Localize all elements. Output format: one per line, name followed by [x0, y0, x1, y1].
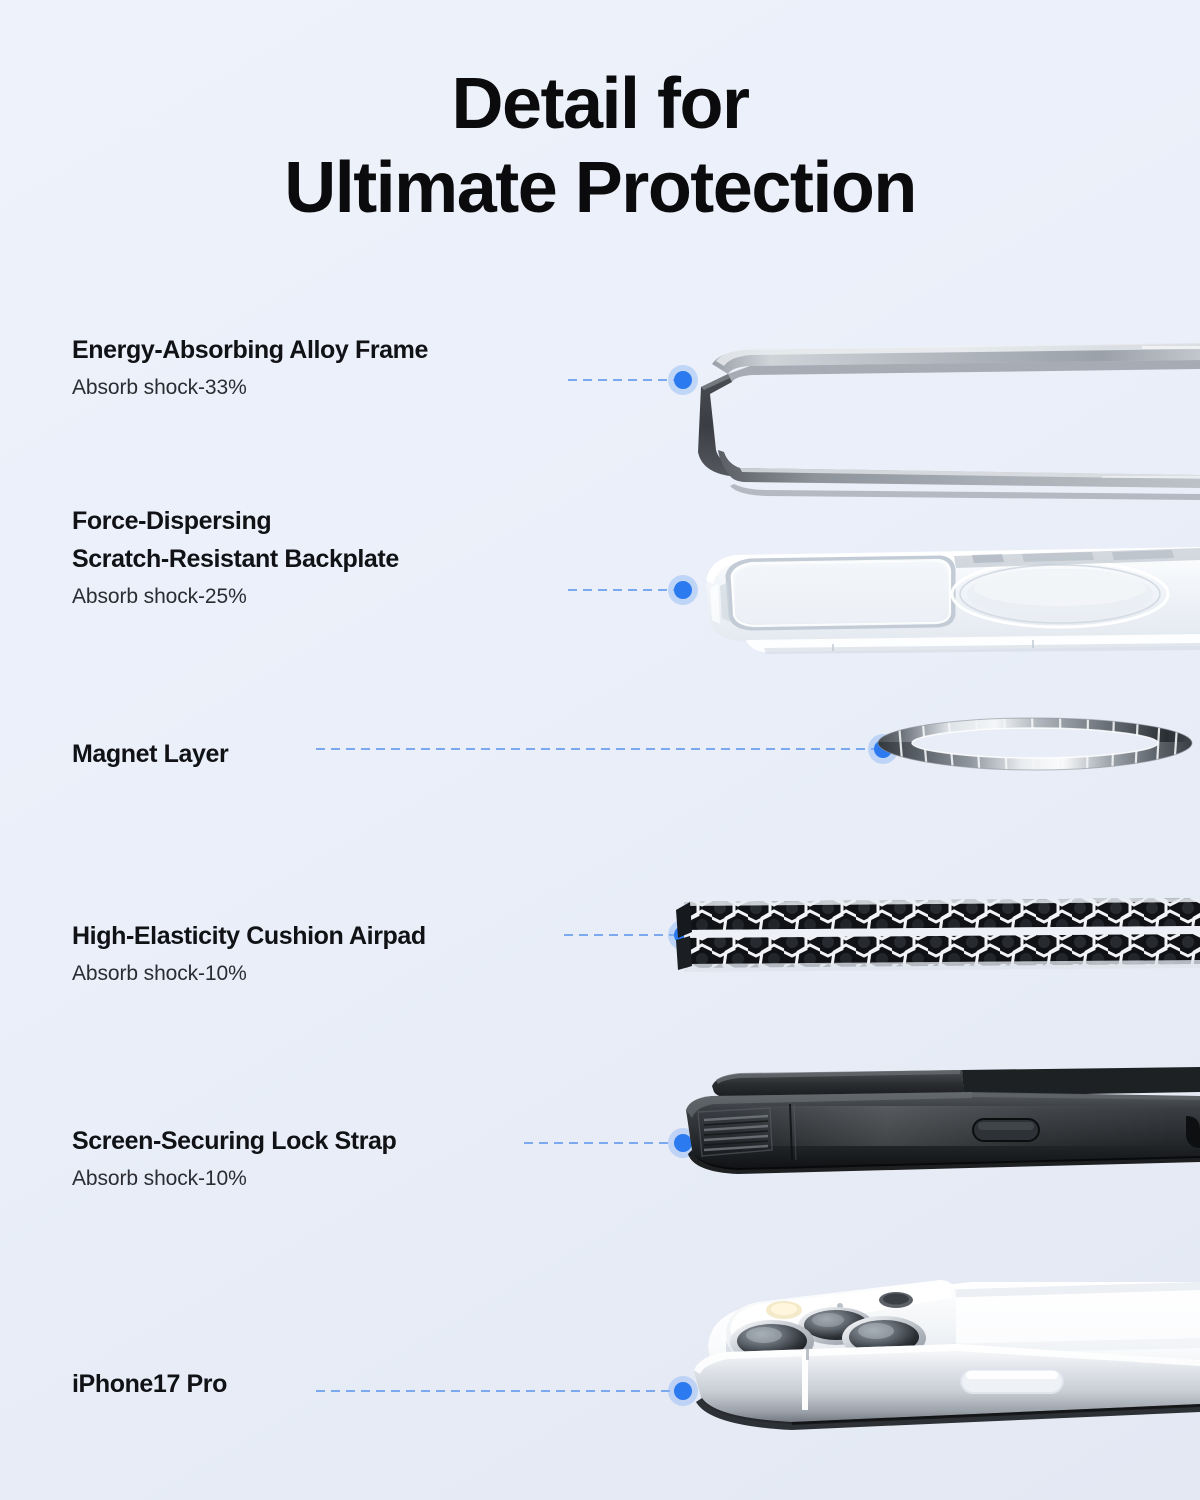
connector-airpad [564, 934, 684, 936]
lock-strap-illustration [672, 1062, 1200, 1192]
connector-backplate [568, 589, 684, 591]
layer-sub-alloy-frame: Absorb shock-33% [72, 374, 428, 402]
layer-title-backplate-line-1: Force-Dispersing [72, 505, 399, 537]
magnet-ring-illustration [870, 712, 1200, 784]
connector-device [316, 1390, 684, 1392]
clear-backplate-illustration [672, 528, 1200, 668]
connector-magnet [316, 748, 884, 750]
label-group-device: iPhone17 Pro [72, 1368, 227, 1400]
layer-title-lock-strap: Screen-Securing Lock Strap [72, 1125, 396, 1157]
layer-title-airpad: High-Elasticity Cushion Airpad [72, 920, 426, 952]
layer-sub-airpad: Absorb shock-10% [72, 960, 426, 988]
alloy-frame-illustration [672, 338, 1200, 503]
page-title: Detail for Ultimate Protection [0, 62, 1200, 230]
layer-title-backplate-line-2: Scratch-Resistant Backplate [72, 543, 399, 575]
label-group-airpad: High-Elasticity Cushion Airpad Absorb sh… [72, 920, 426, 988]
layer-title-alloy-frame: Energy-Absorbing Alloy Frame [72, 334, 428, 366]
label-group-magnet: Magnet Layer [72, 738, 228, 770]
iphone-illustration [672, 1268, 1200, 1438]
label-group-alloy-frame: Energy-Absorbing Alloy Frame Absorb shoc… [72, 334, 428, 402]
page-title-line-2: Ultimate Protection [0, 146, 1200, 230]
connector-alloy-frame [568, 379, 684, 381]
honeycomb-airpad-illustration [676, 896, 1200, 978]
connector-lock-strap [524, 1142, 684, 1144]
label-group-lock-strap: Screen-Securing Lock Strap Absorb shock-… [72, 1125, 396, 1193]
page-title-line-1: Detail for [0, 62, 1200, 146]
layer-sub-backplate: Absorb shock-25% [72, 583, 399, 611]
label-group-backplate: Force-Dispersing Scratch-Resistant Backp… [72, 505, 399, 611]
layer-title-device: iPhone17 Pro [72, 1368, 227, 1400]
layer-sub-lock-strap: Absorb shock-10% [72, 1165, 396, 1193]
layer-title-magnet: Magnet Layer [72, 738, 228, 770]
